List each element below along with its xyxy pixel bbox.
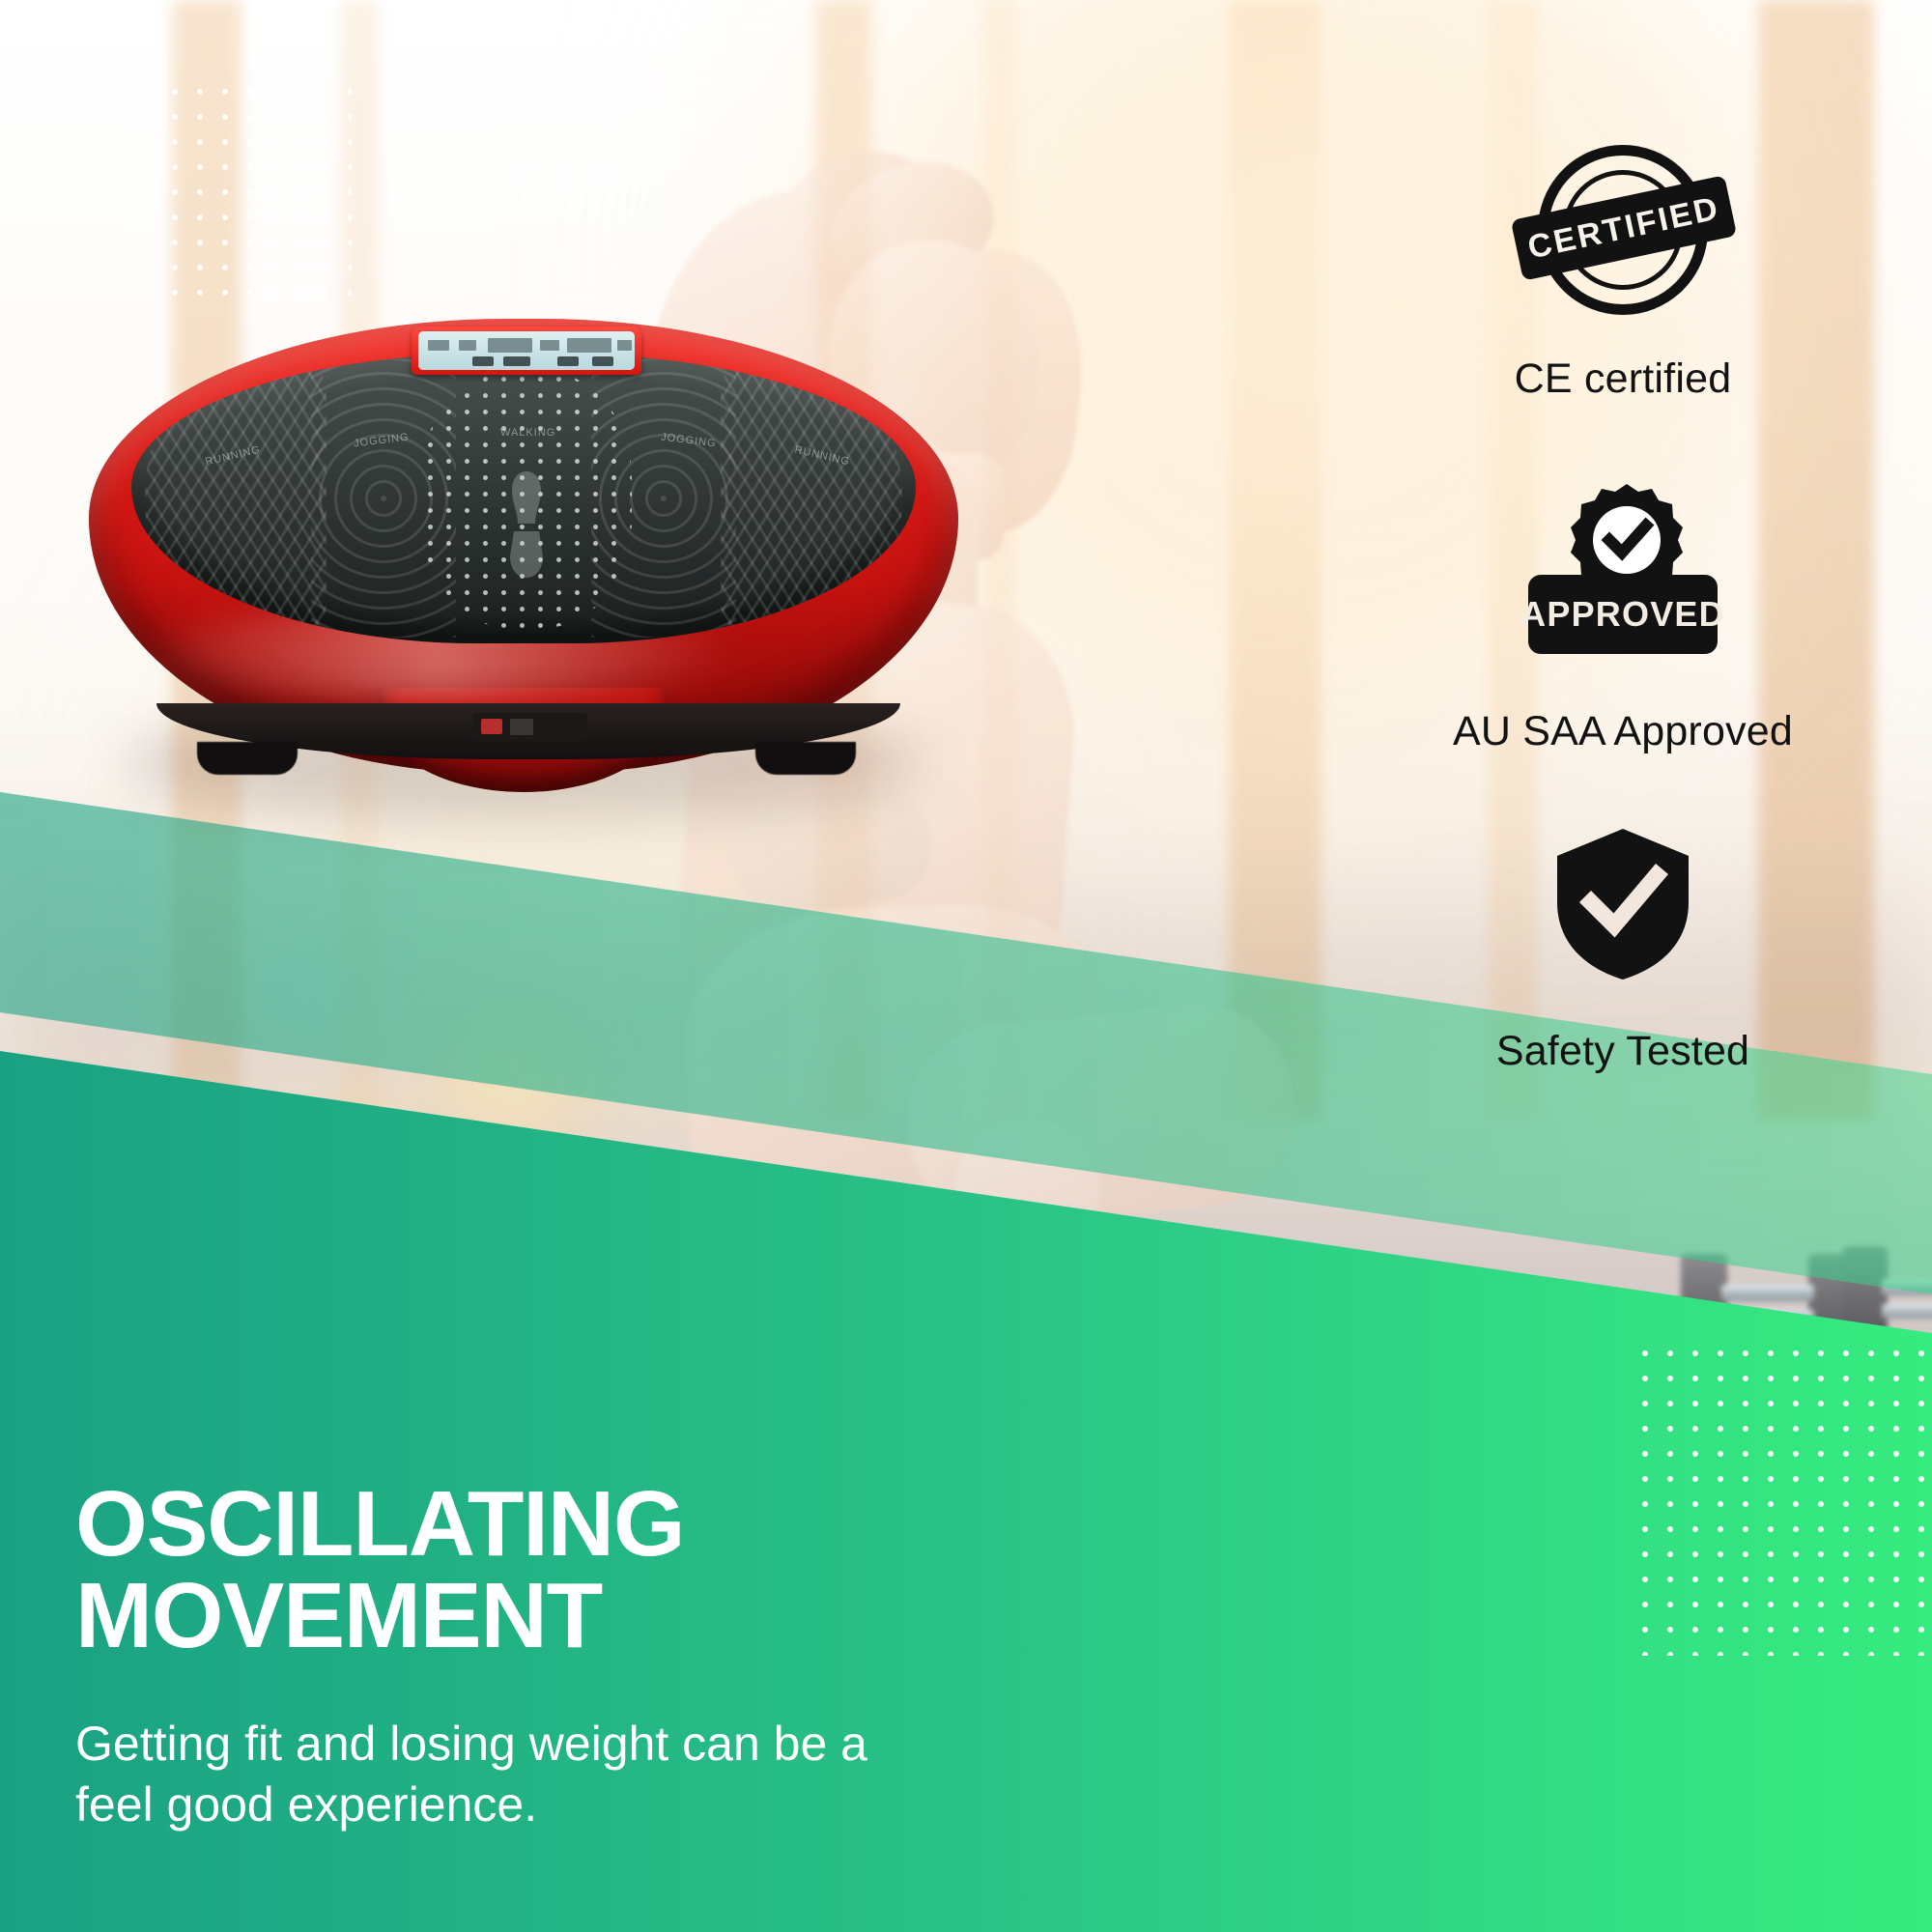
certification-list: CERTIFIED CE certified APPROVED (1372, 145, 1874, 1075)
product-foot-icon (197, 742, 298, 775)
certification-label-saa: AU SAA Approved (1453, 708, 1793, 755)
product-image: RUNNING JOGGING WALKING JOGGING RUNNING (89, 319, 958, 792)
power-switch-icon[interactable] (481, 719, 502, 734)
subheadline-line-2: feel good experience. (75, 1775, 925, 1835)
footprint-glyph-icon (491, 468, 562, 582)
chevron-texture-left (145, 363, 327, 634)
control-console[interactable] (412, 327, 641, 375)
certification-item-safety: Safety Tested (1372, 827, 1874, 1075)
shield-icon (1554, 827, 1691, 981)
certified-stamp-icon: CERTIFIED (1538, 145, 1708, 315)
power-switch-panel[interactable] (473, 713, 587, 740)
approved-plate-text: APPROVED (1520, 594, 1725, 635)
lcd-display (418, 331, 635, 370)
product-foot-icon (755, 742, 856, 775)
certification-item-saa: APPROVED AU SAA Approved (1372, 484, 1874, 755)
chevron-texture-right (721, 363, 902, 634)
headline-line-1: OSCILLATING (75, 1478, 1235, 1570)
shield-check-icon (1554, 827, 1691, 981)
marketing-copy: OSCILLATING MOVEMENT Getting fit and los… (75, 1478, 1235, 1835)
subheadline-line-1: Getting fit and losing weight can be a (75, 1714, 925, 1775)
certification-label-ce: CE certified (1515, 355, 1732, 403)
product-banner: RUNNING JOGGING WALKING JOGGING RUNNING (0, 0, 1932, 1932)
platform-zone-label: WALKING (500, 427, 555, 439)
certification-label-safety: Safety Tested (1496, 1028, 1749, 1075)
product-platform-surface: RUNNING JOGGING WALKING JOGGING RUNNING (131, 354, 916, 643)
power-socket-icon[interactable] (510, 719, 533, 735)
headline-line-2: MOVEMENT (75, 1570, 1235, 1662)
certification-item-ce: CERTIFIED CE certified (1372, 145, 1874, 403)
approved-rosette-icon: APPROVED (1528, 484, 1718, 664)
